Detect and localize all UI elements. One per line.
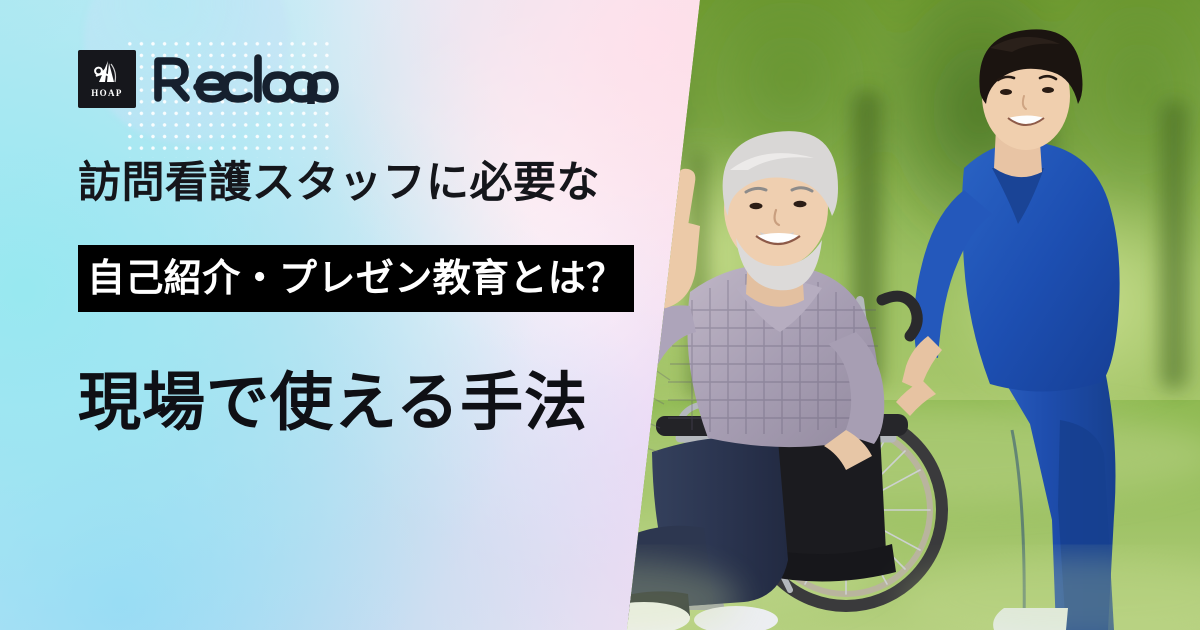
hoap-monogram-icon: HOAP	[78, 50, 136, 108]
headline-line-1: 訪問看護スタッフに必要な	[78, 158, 638, 209]
headline-line-2-wrapper: 自己紹介・プレゼン教育とは？	[78, 245, 638, 312]
headline-highlight-bar: 自己紹介・プレゼン教育とは？	[78, 245, 634, 312]
headline-line-3: 現場で使える手法	[78, 368, 638, 437]
og-card: HOAP	[0, 0, 1200, 630]
hoap-label: HOAP	[91, 89, 123, 98]
brand-logo[interactable]: HOAP	[78, 50, 349, 108]
recloop-wordmark	[153, 54, 349, 104]
headline-block: 訪問看護スタッフに必要な 自己紹介・プレゼン教育とは？ 現場で使える手法	[78, 158, 638, 437]
